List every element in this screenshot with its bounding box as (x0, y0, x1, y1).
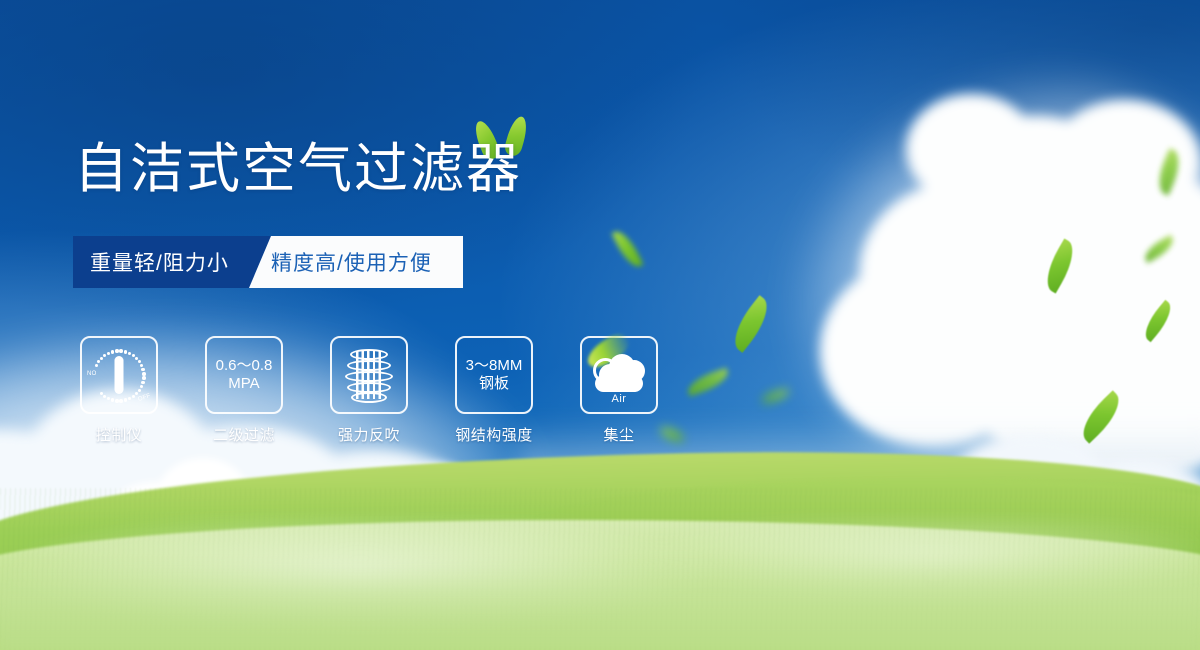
feature-icon-box: 0.6～0.8 MPA (205, 336, 283, 414)
gauge-tick-icon (115, 349, 119, 353)
gauge-tick-icon (142, 376, 146, 380)
gauge-tick-icon (140, 364, 144, 368)
cloud-air-icon: Air (589, 348, 649, 402)
gauge-label-no: NO (87, 371, 97, 377)
subtitle-right-segment: 精度高/使用方便 (249, 236, 463, 288)
gauge-tick-icon (140, 385, 144, 389)
gauge-tick-icon (135, 392, 139, 396)
feature-label: 钢结构强度 (455, 424, 533, 445)
steel-plate-label: 钢板 (466, 375, 523, 393)
gauge-label-off: OFF (137, 393, 151, 403)
gauge-tick-icon (132, 395, 136, 399)
gauge-tick-icon (119, 399, 123, 403)
pressure-value: 0.6～0.8 (216, 357, 273, 374)
feature-item-steel[interactable]: 3～8MM 钢板 钢结构强度 (455, 336, 533, 445)
feature-icon-box (330, 336, 408, 414)
air-label: Air (589, 393, 649, 405)
gauge-tick-icon (119, 349, 123, 353)
feature-label: 集尘 (603, 424, 634, 445)
gauge-tick-icon (95, 364, 99, 368)
gauge-tick-icon (115, 399, 119, 403)
airflow-spiral-icon (343, 347, 395, 403)
steel-thickness-value: 3～8MM (466, 357, 523, 374)
feature-list: NO OFF 控制仪 0.6～0.8 MPA 二级过滤 (80, 336, 658, 445)
gauge-tick-icon (141, 381, 145, 385)
subtitle-bar: 重量轻/阻力小 精度高/使用方便 (73, 236, 463, 288)
gauge-tick-icon (128, 397, 132, 401)
grass-foreground-fade (0, 560, 1200, 650)
subtitle-left-segment: 重量轻/阻力小 (73, 236, 271, 288)
gauge-tick-icon (103, 395, 107, 399)
gauge-icon: NO OFF (88, 345, 150, 405)
feature-icon-box: Air (580, 336, 658, 414)
gauge-tick-icon (107, 352, 111, 356)
gauge-tick-icon (142, 372, 146, 376)
gauge-tick-icon (107, 397, 111, 401)
gauge-tick-icon (124, 398, 128, 402)
feature-label: 控制仪 (96, 424, 143, 445)
feature-item-filter[interactable]: 0.6～0.8 MPA 二级过滤 (205, 336, 283, 445)
feature-label: 二级过滤 (213, 424, 275, 445)
gauge-tick-icon (111, 398, 115, 402)
gauge-tick-icon (111, 350, 115, 354)
pressure-unit: MPA (216, 375, 273, 393)
gauge-needle-icon (115, 356, 124, 394)
gauge-tick-icon (138, 360, 142, 364)
feature-icon-box: 3～8MM 钢板 (455, 336, 533, 414)
steel-thickness-text-icon: 3～8MM 钢板 (466, 357, 523, 394)
subtitle-right-text: 精度高/使用方便 (271, 247, 432, 277)
gauge-tick-icon (124, 350, 128, 354)
gauge-tick-icon (138, 389, 142, 393)
gauge-tick-icon (103, 354, 107, 358)
gauge-tick-icon (128, 352, 132, 356)
cloud-base-icon (595, 375, 643, 392)
product-banner: 自洁式空气过滤器 重量轻/阻力小 精度高/使用方便 NO OFF 控制仪 (0, 0, 1200, 650)
subtitle-left-text: 重量轻/阻力小 (90, 247, 229, 277)
feature-item-blowback[interactable]: 强力反吹 (330, 336, 408, 445)
feature-item-dust[interactable]: Air 集尘 (580, 336, 658, 445)
feature-icon-box: NO OFF (80, 336, 158, 414)
gauge-tick-icon (97, 360, 101, 364)
gauge-tick-icon (141, 368, 145, 372)
page-title: 自洁式空气过滤器 (74, 142, 522, 196)
feature-label: 强力反吹 (338, 424, 400, 445)
pressure-text-icon: 0.6～0.8 MPA (216, 357, 273, 394)
gauge-tick-icon (100, 357, 104, 361)
feature-item-control[interactable]: NO OFF 控制仪 (80, 336, 158, 445)
